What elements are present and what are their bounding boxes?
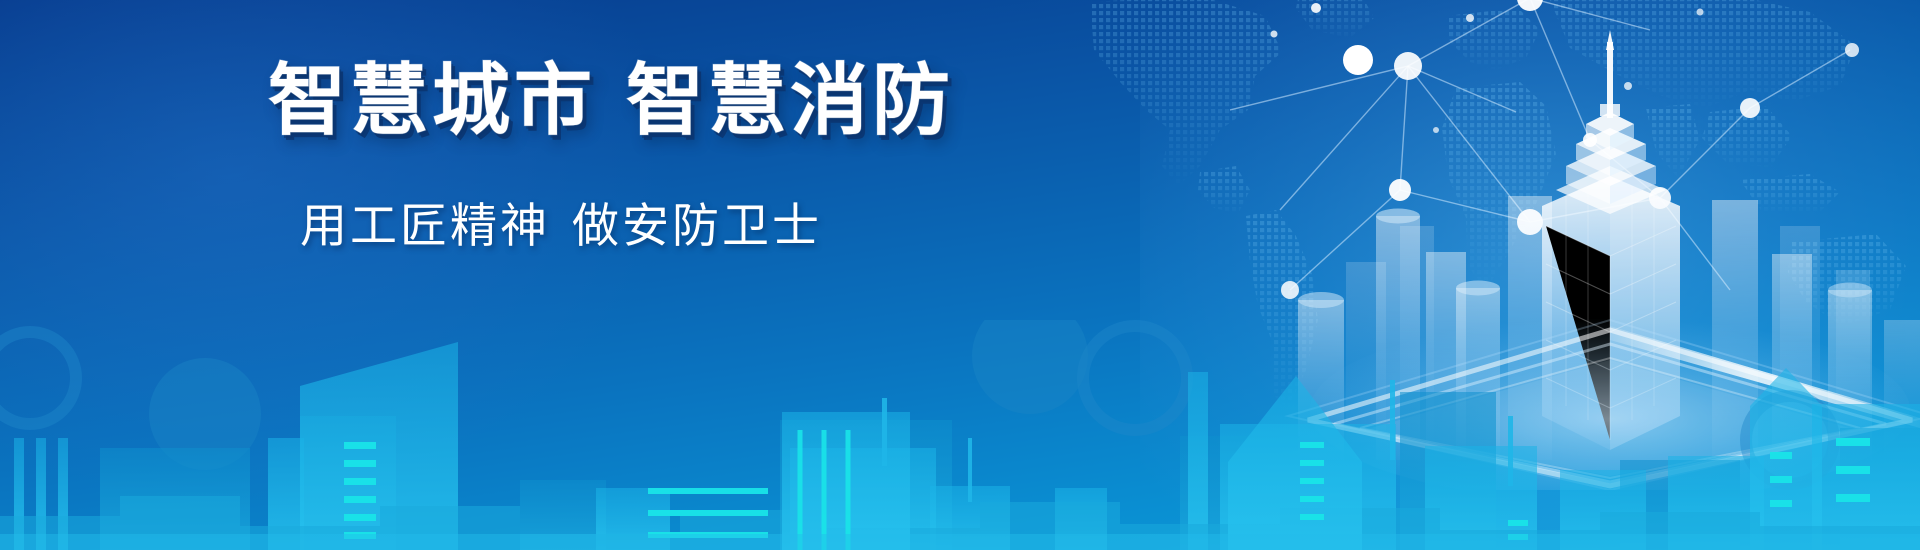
title-part-1: 智慧城市 <box>268 56 596 146</box>
subtitle-part-1: 用工匠精神 <box>300 199 550 254</box>
smart-city-banner: 智慧城市智慧消防 用工匠精神做安防卫士 <box>0 0 1920 550</box>
page-subtitle: 用工匠精神做安防卫士 <box>300 203 822 250</box>
subtitle-part-2: 做安防卫士 <box>572 199 822 254</box>
right-glow <box>1140 0 1920 550</box>
smart-city-3d-illustration <box>1280 20 1920 490</box>
world-map-dots-icon <box>1050 0 1920 420</box>
page-title: 智慧城市智慧消防 <box>268 62 954 140</box>
network-graph-icon <box>1230 0 1920 410</box>
banner-text-block: 智慧城市智慧消防 用工匠精神做安防卫士 <box>0 0 1000 550</box>
title-part-2: 智慧消防 <box>626 56 954 146</box>
